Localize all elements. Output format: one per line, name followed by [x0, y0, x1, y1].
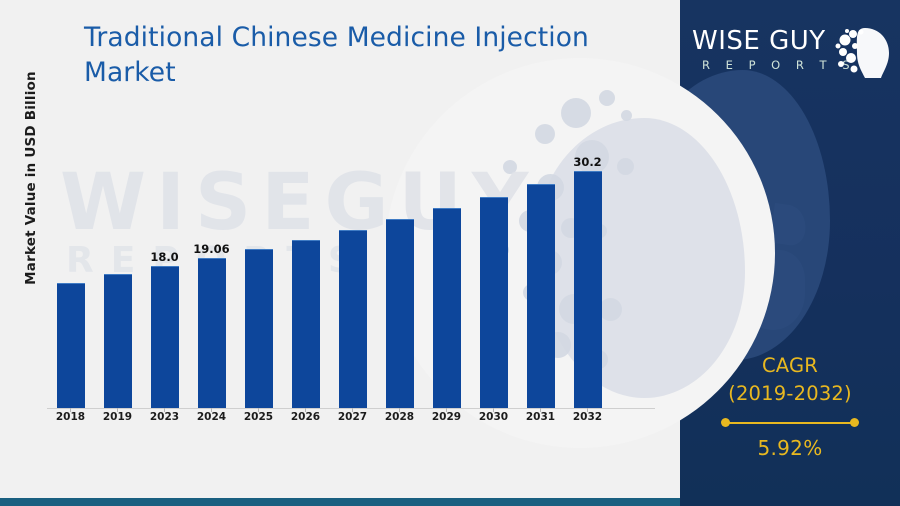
- x-tick-2023: 2023: [141, 411, 188, 423]
- cagr-divider: [721, 418, 859, 427]
- x-tick-2029: 2029: [423, 411, 470, 423]
- x-tick-mark: [117, 408, 118, 412]
- x-tick-2031: 2031: [517, 411, 564, 423]
- bar-2019: [104, 274, 132, 408]
- bar-value-label-2023: 18.0: [141, 250, 188, 264]
- bar-slot: [94, 150, 141, 408]
- bar-chart: WISEGUY REPORTS Market Value in USD Bill…: [0, 0, 680, 498]
- divider-dot-right: [850, 418, 859, 427]
- x-tick-mark: [446, 408, 447, 412]
- bar-2025: [245, 249, 273, 408]
- x-tick-mark: [164, 408, 165, 412]
- x-tick-2030: 2030: [470, 411, 517, 423]
- x-axis-line: [47, 408, 655, 409]
- bar-slot: [517, 150, 564, 408]
- cagr-period: (2019-2032): [680, 380, 900, 408]
- bar-2032: [574, 171, 602, 408]
- x-tick-2025: 2025: [235, 411, 282, 423]
- bar-2023: [151, 266, 179, 408]
- y-axis-label: Market Value in USD Billion: [23, 53, 39, 303]
- cagr-block: CAGR (2019-2032) 5.92%: [680, 352, 900, 460]
- brand-logo: WISE GUY R E P O R T S: [692, 26, 897, 90]
- bar-slot: [376, 150, 423, 408]
- bar-slot: [235, 150, 282, 408]
- x-tick-2018: 2018: [47, 411, 94, 423]
- bar-2029: [433, 208, 461, 408]
- bar-2026: [292, 240, 320, 408]
- x-tick-mark: [493, 408, 494, 412]
- bar-slot: [47, 150, 94, 408]
- bar-slot: 19.06: [188, 150, 235, 408]
- bar-slot: [423, 150, 470, 408]
- logo-subtitle: R E P O R T S: [702, 58, 856, 72]
- bar-slot: [329, 150, 376, 408]
- bar-2024: [198, 258, 226, 408]
- bar-value-label-2024: 19.06: [188, 242, 235, 256]
- bar-2030: [480, 197, 508, 408]
- x-tick-mark: [540, 408, 541, 412]
- bar-2031: [527, 184, 555, 408]
- bar-2027: [339, 230, 367, 408]
- x-tick-2019: 2019: [94, 411, 141, 423]
- x-tick-mark: [70, 408, 71, 412]
- infographic-canvas: WISE GUY R E P O R T S Traditional Chine…: [0, 0, 900, 506]
- bottom-accent-strip: [0, 498, 680, 506]
- x-tick-mark: [399, 408, 400, 412]
- molecular-head-profile-icon: [835, 22, 897, 84]
- x-tick-2024: 2024: [188, 411, 235, 423]
- divider-line: [726, 422, 854, 423]
- bar-slot: 30.2: [564, 150, 611, 408]
- cagr-value: 5.92%: [680, 436, 900, 460]
- bar-series: 18.019.0630.2: [47, 150, 657, 408]
- x-tick-2028: 2028: [376, 411, 423, 423]
- x-tick-mark: [211, 408, 212, 412]
- x-tick-2027: 2027: [329, 411, 376, 423]
- x-tick-2026: 2026: [282, 411, 329, 423]
- cagr-label: CAGR: [680, 352, 900, 380]
- x-tick-2032: 2032: [564, 411, 611, 423]
- bar-slot: [282, 150, 329, 408]
- bar-slot: [470, 150, 517, 408]
- bar-2018: [57, 283, 85, 408]
- x-tick-mark: [352, 408, 353, 412]
- x-tick-mark: [587, 408, 588, 412]
- bar-slot: 18.0: [141, 150, 188, 408]
- logo-wordmark: WISE GUY: [692, 26, 826, 56]
- bar-value-label-2032: 30.2: [564, 155, 611, 169]
- x-tick-mark: [305, 408, 306, 412]
- x-tick-mark: [258, 408, 259, 412]
- bar-2028: [386, 219, 414, 408]
